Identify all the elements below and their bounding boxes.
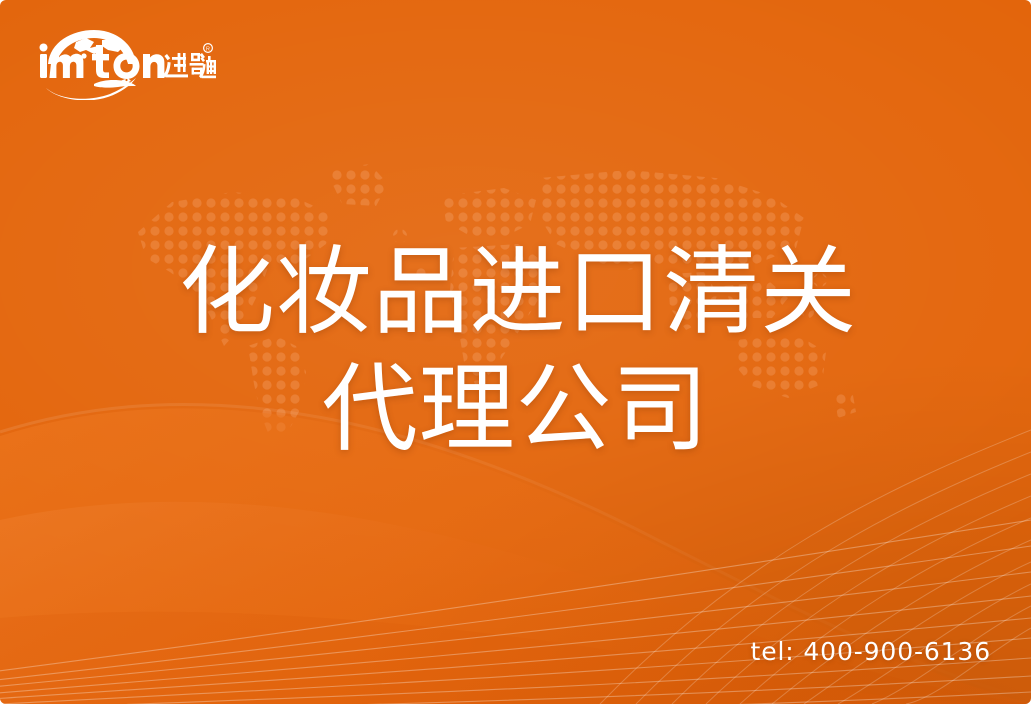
registered-trademark-glyph: R [206,46,210,52]
swoosh-bird-icon [46,78,136,100]
title-line-1: 化妆品进口清关 [0,236,1031,349]
brand-logo[interactable]: R [36,26,216,100]
contact-phone[interactable]: tel: 400-900-6136 [751,637,991,666]
page-title: 化妆品进口清关 代理公司 [0,236,1031,467]
title-line-2: 代理公司 [0,353,1031,466]
logo-wordmark-chinese [163,53,216,78]
promo-banner: R 化妆品进口清关 代理公司 tel: 400-900-6136 [0,0,1031,704]
